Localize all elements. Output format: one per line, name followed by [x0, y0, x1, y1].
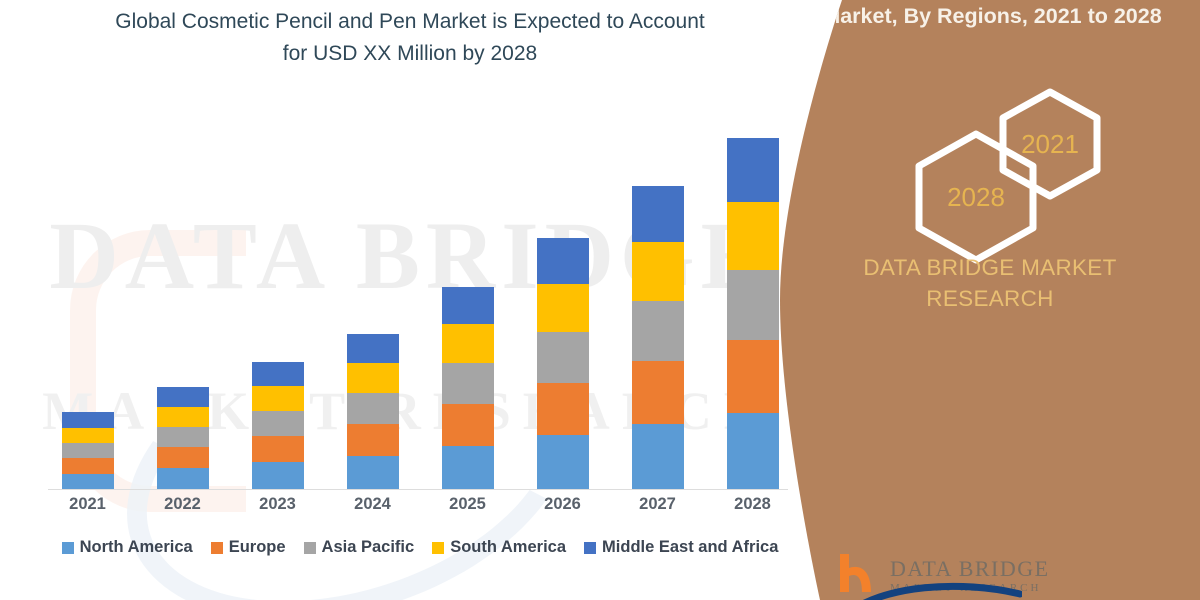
stacked-bar-2022[interactable] — [157, 387, 209, 489]
bar-segment — [632, 186, 684, 242]
bar-segment — [62, 443, 114, 458]
bar-slot — [610, 100, 705, 489]
bar-slot — [420, 100, 515, 489]
bar-segment — [442, 404, 494, 446]
legend-item[interactable]: Asia Pacific — [304, 538, 415, 557]
x-tick-2024: 2024 — [325, 495, 420, 514]
bar-segment — [537, 383, 589, 435]
footer-logo: DATA BRIDGE MARKET RESEARCH — [838, 552, 1078, 600]
bar-segment — [157, 468, 209, 489]
x-tick-2025: 2025 — [420, 495, 515, 514]
logo-swoosh-icon — [842, 578, 1022, 600]
bar-segment — [157, 427, 209, 447]
bar-segment — [727, 340, 779, 413]
bar-segment — [347, 334, 399, 363]
bar-segment — [62, 458, 114, 474]
stacked-bar-2025[interactable] — [442, 287, 494, 489]
x-tick-2027: 2027 — [610, 495, 705, 514]
bar-segment — [252, 462, 304, 489]
bar-segment — [347, 393, 399, 424]
bar-segment — [632, 242, 684, 301]
bar-segment — [632, 361, 684, 424]
legend-item[interactable]: North America — [62, 538, 193, 557]
bar-segment — [442, 324, 494, 363]
stacked-bar-2027[interactable] — [632, 186, 684, 489]
bar-segment — [252, 411, 304, 436]
chart-title-line-2: for USD XX Million by 2028 — [40, 38, 780, 70]
x-tick-2028: 2028 — [705, 495, 800, 514]
hexagon-group: 2021 2028 — [780, 88, 1200, 248]
bar-segment — [727, 270, 779, 341]
infographic-root: DATA BRIDGE MARKET RESEARCH Global Cosme… — [0, 0, 1200, 600]
bar-segment — [537, 284, 589, 333]
bar-segment — [727, 202, 779, 270]
chart-title-line-1: Global Cosmetic Pencil and Pen Market is… — [40, 6, 780, 38]
legend-label: Europe — [229, 538, 286, 557]
bar-segment — [727, 138, 779, 202]
bar-segment — [62, 474, 114, 489]
right-brown-panel: Market, By Regions, 2021 to 2028 2021 20… — [780, 0, 1200, 600]
legend-item[interactable]: South America — [432, 538, 566, 557]
hexagon-2028-label: 2028 — [914, 130, 1038, 264]
bar-segment — [347, 363, 399, 393]
brand-name: DATA BRIDGE MARKET RESEARCH — [780, 252, 1200, 314]
bar-segment — [157, 407, 209, 427]
bar-segment — [442, 363, 494, 404]
bar-slot — [230, 100, 325, 489]
bar-slot — [325, 100, 420, 489]
bar-slot — [515, 100, 610, 489]
legend-label: South America — [450, 538, 566, 557]
bar-segment — [442, 287, 494, 325]
bar-segment — [157, 447, 209, 468]
stacked-bar-group — [40, 100, 800, 489]
stacked-bar-2023[interactable] — [252, 362, 304, 489]
bar-segment — [537, 238, 589, 284]
x-tick-2026: 2026 — [515, 495, 610, 514]
x-tick-2023: 2023 — [230, 495, 325, 514]
x-tick-2022: 2022 — [135, 495, 230, 514]
legend-label: North America — [80, 538, 193, 557]
legend-swatch-icon — [304, 542, 316, 554]
bar-segment — [442, 446, 494, 489]
legend-item[interactable]: Europe — [211, 538, 286, 557]
bar-slot — [135, 100, 230, 489]
x-axis-line — [48, 489, 788, 490]
legend-label: Asia Pacific — [322, 538, 415, 557]
legend-swatch-icon — [584, 542, 596, 554]
bar-segment — [62, 412, 114, 428]
chart-title: Global Cosmetic Pencil and Pen Market is… — [40, 6, 780, 70]
stacked-bar-2024[interactable] — [347, 334, 399, 489]
stacked-bar-2028[interactable] — [727, 138, 779, 489]
bar-segment — [347, 456, 399, 489]
bar-segment — [347, 424, 399, 456]
bar-segment — [632, 301, 684, 362]
legend-swatch-icon — [211, 542, 223, 554]
chart-legend: North AmericaEuropeAsia PacificSouth Ame… — [40, 538, 800, 557]
x-tick-2021: 2021 — [40, 495, 135, 514]
legend-label: Middle East and Africa — [602, 538, 778, 557]
bar-slot — [40, 100, 135, 489]
x-axis-tick-labels: 20212022202320242025202620272028 — [40, 495, 800, 514]
legend-swatch-icon — [62, 542, 74, 554]
bar-segment — [537, 435, 589, 489]
hexagon-2028: 2028 — [914, 130, 1038, 264]
stacked-bar-2026[interactable] — [537, 238, 589, 489]
panel-title: Market, By Regions, 2021 to 2028 — [792, 4, 1192, 29]
brand-line-1: DATA BRIDGE MARKET — [863, 255, 1116, 280]
chart-plot-area — [40, 100, 800, 490]
bar-segment — [62, 428, 114, 443]
brand-line-2: RESEARCH — [780, 283, 1200, 314]
legend-item[interactable]: Middle East and Africa — [584, 538, 778, 557]
bar-segment — [157, 387, 209, 407]
bar-segment — [252, 362, 304, 386]
bar-segment — [727, 413, 779, 489]
bar-segment — [252, 436, 304, 462]
stacked-bar-2021[interactable] — [62, 412, 114, 489]
bar-segment — [252, 386, 304, 411]
legend-swatch-icon — [432, 542, 444, 554]
bar-segment — [537, 332, 589, 383]
bar-segment — [632, 424, 684, 489]
